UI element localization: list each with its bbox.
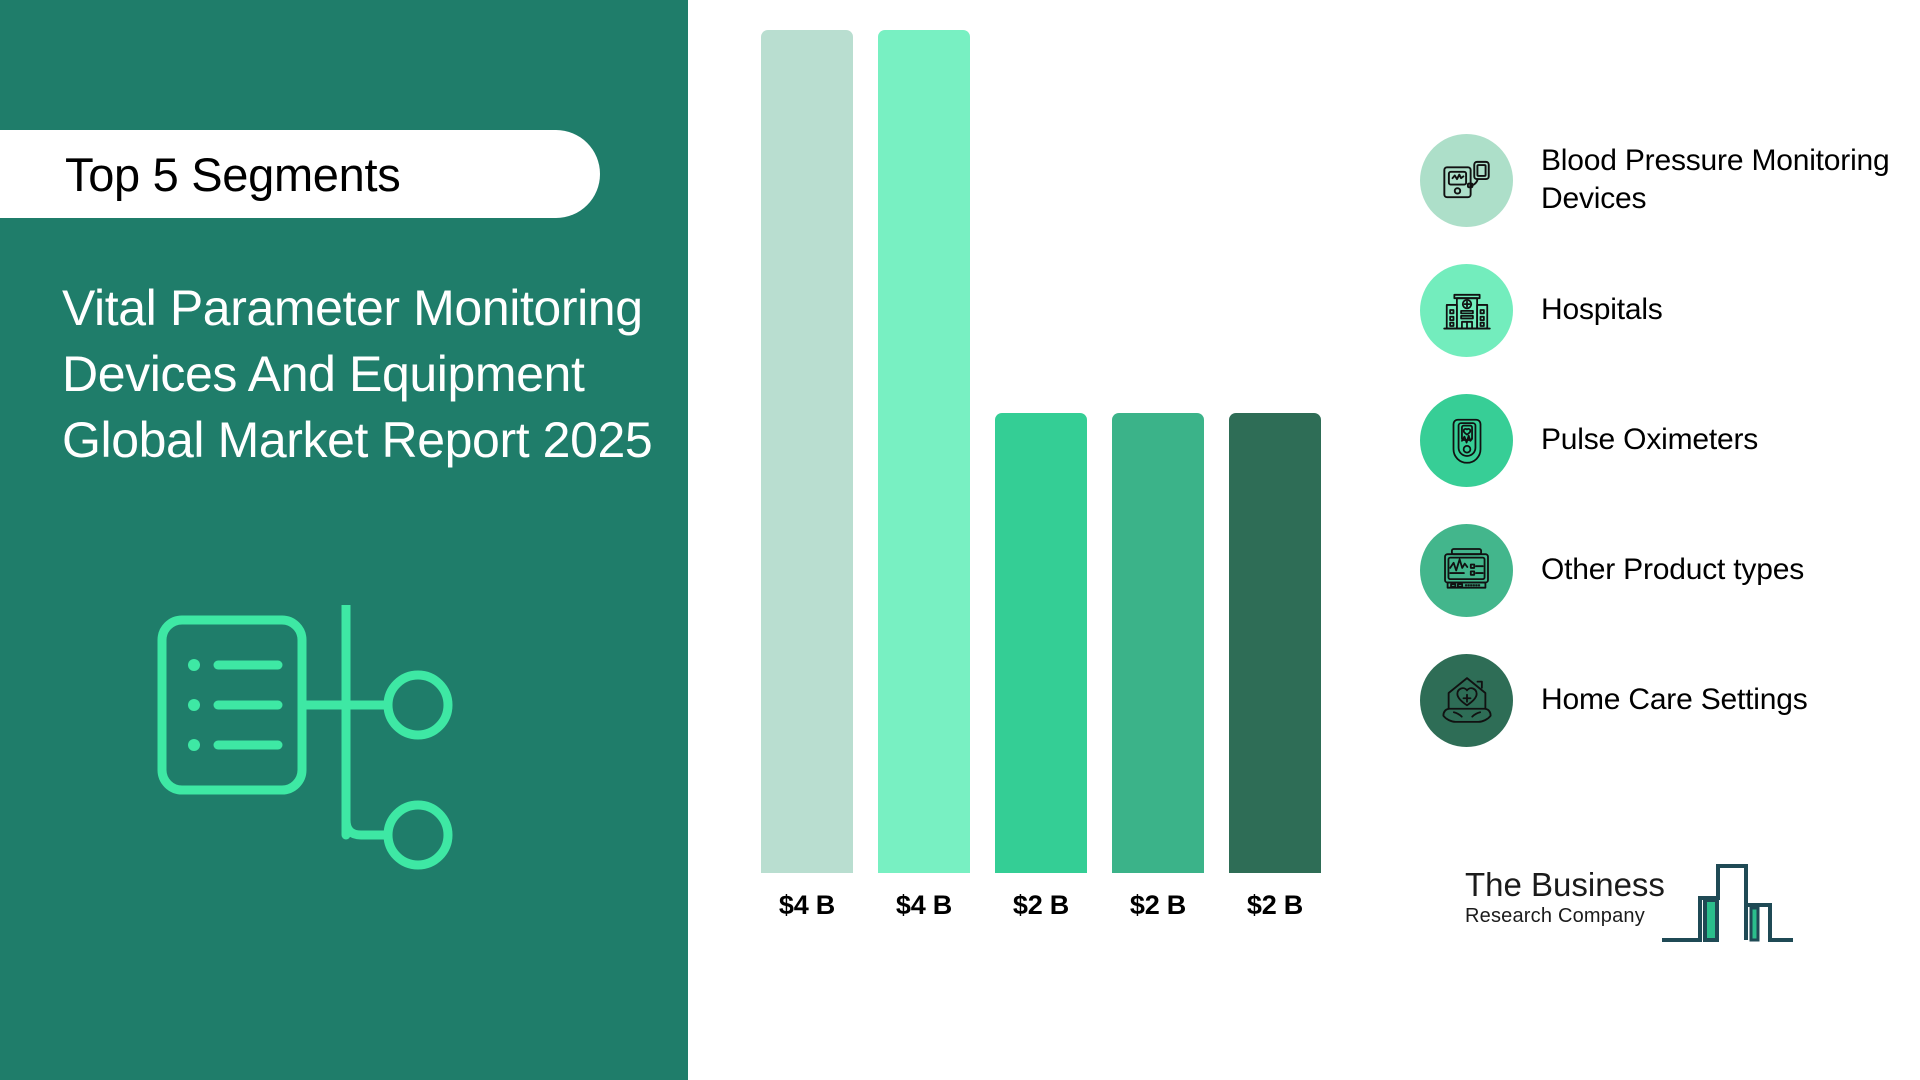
bar-value-label: $2 B bbox=[995, 890, 1087, 921]
legend-item-pulse-oximeters[interactable]: Pulse Oximeters bbox=[1420, 390, 1890, 490]
logo-line-1: The Business bbox=[1465, 868, 1680, 901]
bar-value-label: $2 B bbox=[1112, 890, 1204, 921]
bar-value-labels: $4 B $4 B $2 B $2 B $2 B bbox=[761, 890, 1321, 921]
infographic-canvas: Top 5 Segments Vital Parameter Monitorin… bbox=[0, 0, 1920, 1080]
bar-1 bbox=[761, 30, 853, 873]
bar-column-1 bbox=[761, 30, 853, 873]
legend-item-label: Home Care Settings bbox=[1541, 681, 1808, 719]
bar-2 bbox=[878, 30, 970, 873]
page-title: Vital Parameter Monitoring Devices And E… bbox=[62, 275, 662, 473]
document-branching-nodes-icon bbox=[150, 605, 490, 905]
pulse-oximeter-icon bbox=[1420, 394, 1513, 487]
bar-3 bbox=[995, 413, 1087, 873]
bar-chart: $4 B $4 B $2 B $2 B $2 B bbox=[688, 0, 1400, 1080]
logo-line-2: Research Company bbox=[1465, 904, 1680, 928]
bar-column-4 bbox=[1112, 30, 1204, 873]
bar-value-label: $4 B bbox=[878, 890, 970, 921]
legend-item-label: Other Product types bbox=[1541, 551, 1804, 589]
patient-monitor-screen-icon bbox=[1420, 524, 1513, 617]
bar-chart-logo-mark bbox=[1660, 848, 1795, 948]
bar-4 bbox=[1112, 413, 1204, 873]
home-care-hands-heart-icon bbox=[1420, 654, 1513, 747]
bars-container bbox=[761, 30, 1321, 873]
company-logo: The Business Research Company bbox=[1465, 848, 1795, 948]
legend-item-label: Hospitals bbox=[1541, 291, 1663, 329]
bar-column-5 bbox=[1229, 30, 1321, 873]
bar-5 bbox=[1229, 413, 1321, 873]
bar-column-2 bbox=[878, 30, 970, 873]
legend-item-other-product-types[interactable]: Other Product types bbox=[1420, 520, 1890, 620]
chart-legend: Blood Pressure Monitoring Devices bbox=[1420, 130, 1890, 780]
bar-value-label: $4 B bbox=[761, 890, 853, 921]
legend-item-home-care-settings[interactable]: Home Care Settings bbox=[1420, 650, 1890, 750]
badge-label: Top 5 Segments bbox=[65, 147, 400, 202]
bar-value-label: $2 B bbox=[1229, 890, 1321, 921]
blood-pressure-monitor-icon bbox=[1420, 134, 1513, 227]
legend-item-label: Pulse Oximeters bbox=[1541, 421, 1758, 459]
legend-item-label: Blood Pressure Monitoring Devices bbox=[1541, 142, 1890, 218]
top-segments-badge: Top 5 Segments bbox=[0, 130, 600, 218]
logo-text: The Business Research Company bbox=[1465, 868, 1680, 928]
hospital-building-icon bbox=[1420, 264, 1513, 357]
legend-item-hospitals[interactable]: Hospitals bbox=[1420, 260, 1890, 360]
bar-column-3 bbox=[995, 30, 1087, 873]
legend-item-blood-pressure[interactable]: Blood Pressure Monitoring Devices bbox=[1420, 130, 1890, 230]
left-panel: Top 5 Segments Vital Parameter Monitorin… bbox=[0, 0, 688, 1080]
